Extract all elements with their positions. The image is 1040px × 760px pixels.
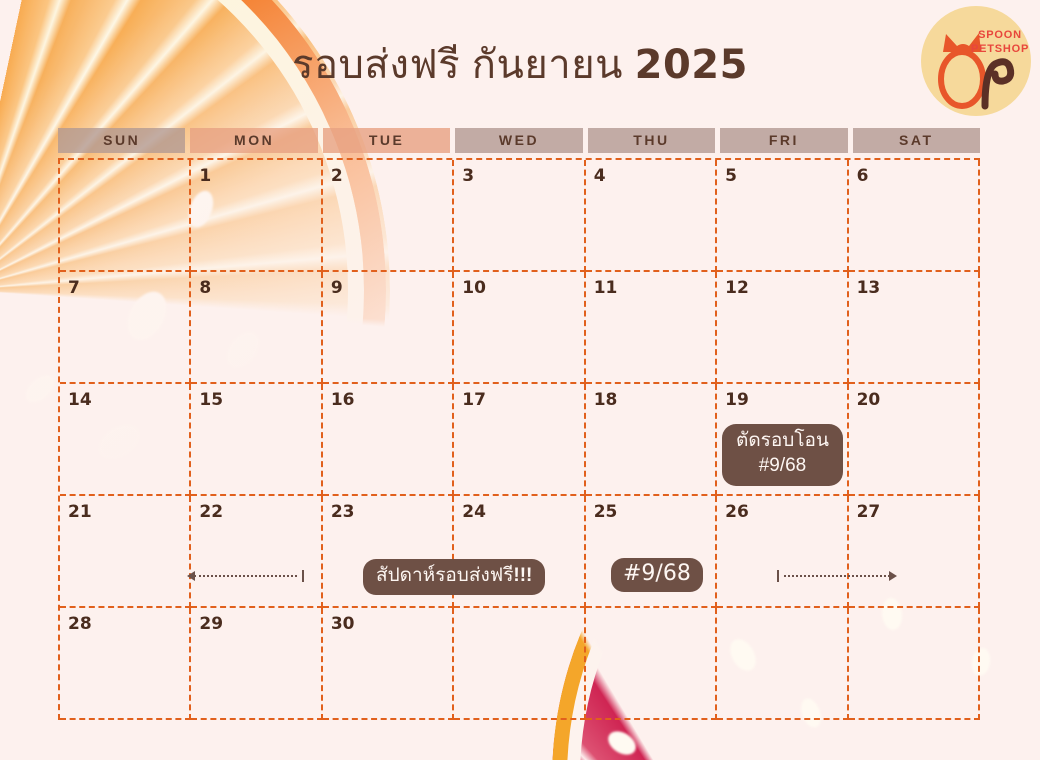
- calendar-day[interactable]: [60, 160, 191, 272]
- free-shipping-week-text: สัปดาห์รอบส่งฟรี: [376, 565, 513, 586]
- calendar-grid: SUN MON TUE WED THU FRI SAT 1 2 3 4 5 6 …: [58, 128, 980, 720]
- transfer-cutoff-badge[interactable]: ตัดรอบโอน #9/68: [722, 424, 843, 486]
- day-number: 18: [594, 390, 618, 410]
- transfer-cutoff-line-2: #9/68: [736, 453, 829, 478]
- page-title-text: รอบส่งฟรี กันยายน: [292, 43, 635, 87]
- calendar-day[interactable]: 9: [323, 272, 454, 384]
- day-number: 27: [857, 502, 881, 522]
- calendar-day[interactable]: 21: [60, 496, 191, 608]
- cat-logo-icon: [921, 6, 1031, 116]
- weekday-header-sat: SAT: [853, 128, 980, 153]
- round-number-badge[interactable]: #9/68: [611, 558, 703, 592]
- day-number: 2: [331, 166, 343, 186]
- range-arrow-left-icon: [187, 569, 304, 583]
- day-number: 24: [462, 502, 486, 522]
- calendar-day[interactable]: 5: [717, 160, 848, 272]
- calendar-day[interactable]: 27: [849, 496, 980, 608]
- calendar-day[interactable]: 26: [717, 496, 848, 608]
- calendar-day[interactable]: [717, 608, 848, 720]
- day-number: 1: [199, 166, 211, 186]
- free-shipping-week-badge[interactable]: สัปดาห์รอบส่งฟรี!!!: [363, 559, 545, 595]
- calendar-day[interactable]: 28: [60, 608, 191, 720]
- range-arrow-right-icon: [777, 569, 897, 583]
- calendar-day[interactable]: [586, 608, 717, 720]
- day-number: 26: [725, 502, 749, 522]
- logo-line-2: PETSHOP: [971, 42, 1029, 56]
- day-number: 4: [594, 166, 606, 186]
- calendar-day[interactable]: 6: [849, 160, 980, 272]
- day-number: 6: [857, 166, 869, 186]
- day-number: 8: [199, 278, 211, 298]
- calendar-day[interactable]: 30: [323, 608, 454, 720]
- weekday-header-fri: FRI: [720, 128, 847, 153]
- weekday-header-tue: TUE: [323, 128, 450, 153]
- day-number: 9: [331, 278, 343, 298]
- transfer-cutoff-line-1: ตัดรอบโอน: [736, 428, 829, 453]
- day-number: 17: [462, 390, 486, 410]
- day-number: 21: [68, 502, 92, 522]
- weekday-header-wed: WED: [455, 128, 582, 153]
- day-number: 19: [725, 390, 749, 410]
- day-number: 7: [68, 278, 80, 298]
- day-number: 28: [68, 614, 92, 634]
- calendar-day[interactable]: 13: [849, 272, 980, 384]
- day-number: 15: [199, 390, 223, 410]
- calendar-day[interactable]: 20: [849, 384, 980, 496]
- logo-line-1: SPOON: [971, 28, 1029, 42]
- day-number: 29: [199, 614, 223, 634]
- calendar-day[interactable]: 22: [191, 496, 322, 608]
- calendar-day[interactable]: 2: [323, 160, 454, 272]
- day-number: 12: [725, 278, 749, 298]
- calendar-day[interactable]: 29: [191, 608, 322, 720]
- calendar-day[interactable]: 16: [323, 384, 454, 496]
- calendar-day[interactable]: 1: [191, 160, 322, 272]
- calendar-week-row: 1 2 3 4 5 6: [60, 160, 980, 272]
- day-number: 3: [462, 166, 474, 186]
- day-number: 11: [594, 278, 618, 298]
- weekday-header-mon: MON: [190, 128, 317, 153]
- day-number: 22: [199, 502, 223, 522]
- page-title-year: 2025: [635, 42, 748, 88]
- calendar-day[interactable]: 17: [454, 384, 585, 496]
- calendar-day[interactable]: 7: [60, 272, 191, 384]
- weekday-header-thu: THU: [588, 128, 715, 153]
- day-number: 10: [462, 278, 486, 298]
- day-number: 5: [725, 166, 737, 186]
- calendar-day[interactable]: 8: [191, 272, 322, 384]
- calendar-day[interactable]: 14: [60, 384, 191, 496]
- calendar-poster: รอบส่งฟรี กันยายน 2025 SPOON PETSHOP SUN…: [0, 0, 1040, 760]
- calendar-day[interactable]: [454, 608, 585, 720]
- calendar-day[interactable]: [849, 608, 980, 720]
- calendar-day[interactable]: 4: [586, 160, 717, 272]
- calendar-day[interactable]: 18: [586, 384, 717, 496]
- weekday-header-sun: SUN: [58, 128, 185, 153]
- calendar-day[interactable]: 12: [717, 272, 848, 384]
- page-title: รอบส่งฟรี กันยายน 2025: [0, 32, 1040, 96]
- day-number: 13: [857, 278, 881, 298]
- day-number: 30: [331, 614, 355, 634]
- calendar-day[interactable]: 15: [191, 384, 322, 496]
- brand-logo: SPOON PETSHOP: [921, 6, 1031, 116]
- day-number: 16: [331, 390, 355, 410]
- day-number: 25: [594, 502, 618, 522]
- day-number: 14: [68, 390, 92, 410]
- calendar-day[interactable]: 11: [586, 272, 717, 384]
- weekday-header-row: SUN MON TUE WED THU FRI SAT: [58, 128, 980, 153]
- calendar-week-row: 28 29 30: [60, 608, 980, 720]
- calendar-day[interactable]: 3: [454, 160, 585, 272]
- logo-wordmark: SPOON PETSHOP: [971, 28, 1029, 56]
- day-number: 23: [331, 502, 355, 522]
- calendar-week-row: 7 8 9 10 11 12 13: [60, 272, 980, 384]
- calendar-day[interactable]: 10: [454, 272, 585, 384]
- day-number: 20: [857, 390, 881, 410]
- free-shipping-week-emphasis: !!!: [513, 565, 532, 586]
